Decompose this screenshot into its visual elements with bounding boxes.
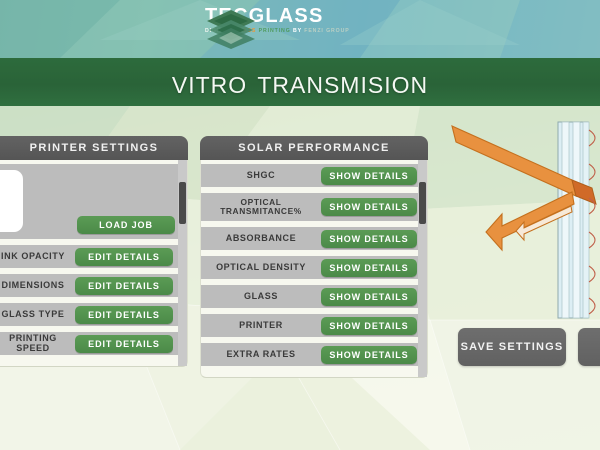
printer-settings-body: LOAD JOB INK OPACITY EDIT DETAILS DIMENS… [0, 160, 188, 367]
row-label-optical-transmitance: OPTICAL TRANSMITANCE% [201, 198, 321, 216]
show-details-button-glass[interactable]: SHOW DETAILS [321, 288, 417, 306]
brand-header-band: TECGLASS DIGITAL GLASS PRINTING BY FENZI… [0, 0, 600, 58]
row-label-glass: GLASS [201, 292, 321, 301]
printer-settings-panel: PRINTER SETTINGS LOAD JOB INK OPACITY ED… [0, 136, 188, 367]
page-title: Vitro Transmision [172, 63, 428, 101]
table-row: ABSORBANCE SHOW DETAILS [201, 227, 427, 250]
row-label-optical-density: OPTICAL DENSITY [201, 263, 321, 272]
table-row: PRINTING SPEED EDIT DETAILS [0, 332, 187, 355]
show-details-button-optical-transmitance[interactable]: SHOW DETAILS [321, 198, 417, 216]
printer-panel-scrollbar[interactable] [178, 160, 187, 366]
tagline-by: BY [293, 28, 302, 34]
row-label-printing-speed: PRINTING SPEED [0, 334, 71, 353]
row-label-ink-opacity: INK OPACITY [0, 252, 71, 261]
job-preview-row: LOAD JOB [0, 164, 187, 239]
show-details-button-absorbance[interactable]: SHOW DETAILS [321, 230, 417, 248]
solar-panel-scroll-thumb[interactable] [419, 182, 426, 224]
brand-logo: TECGLASS DIGITAL GLASS PRINTING BY FENZI… [205, 6, 350, 34]
row-label-glass-type: GLASS TYPE [0, 310, 71, 319]
table-row: SHGC SHOW DETAILS [201, 164, 427, 187]
tagline-printing: PRINTING [259, 28, 291, 34]
stacked-diamond-logo-icon [205, 6, 257, 52]
table-row: GLASS TYPE EDIT DETAILS [0, 303, 187, 326]
application-window: TECGLASS DIGITAL GLASS PRINTING BY FENZI… [0, 0, 600, 450]
show-details-button-optical-density[interactable]: SHOW DETAILS [321, 259, 417, 277]
heat-radiation-arc-icon [589, 130, 595, 314]
table-row: OPTICAL TRANSMITANCE% SHOW DETAILS [201, 193, 427, 221]
edit-details-button-ink-opacity[interactable]: EDIT DETAILS [75, 248, 173, 266]
save-settings-button[interactable]: SAVE SETTINGS [458, 328, 566, 366]
secondary-action-button[interactable] [578, 328, 600, 366]
solar-panel-scrollbar[interactable] [418, 160, 427, 377]
solar-transmission-diagram [440, 118, 600, 358]
solar-performance-panel: SOLAR PERFORMANCE SHGC SHOW DETAILS OPTI… [200, 136, 428, 378]
table-row: EXTRA RATES SHOW DETAILS [201, 343, 427, 366]
row-label-absorbance: ABSORBANCE [201, 234, 321, 243]
solar-performance-title: SOLAR PERFORMANCE [200, 136, 428, 160]
tagline-fenzi-group: FENZI GROUP [304, 28, 349, 34]
show-details-button-extra-rates[interactable]: SHOW DETAILS [321, 346, 417, 364]
printer-settings-title: PRINTER SETTINGS [0, 136, 188, 160]
row-label-shgc: SHGC [201, 171, 321, 180]
row-label-dimensions: DIMENSIONS [0, 281, 71, 290]
page-title-band: Vitro Transmision [0, 58, 600, 106]
solar-performance-body: SHGC SHOW DETAILS OPTICAL TRANSMITANCE% … [200, 160, 428, 378]
show-details-button-printer[interactable]: SHOW DETAILS [321, 317, 417, 335]
show-details-button-shgc[interactable]: SHOW DETAILS [321, 167, 417, 185]
job-preview-thumbnail[interactable] [0, 170, 23, 232]
row-label-extra-rates: EXTRA RATES [201, 350, 321, 359]
edit-details-button-dimensions[interactable]: EDIT DETAILS [75, 277, 173, 295]
laminated-glass-panes-icon [558, 122, 589, 318]
table-row: OPTICAL DENSITY SHOW DETAILS [201, 256, 427, 279]
printer-panel-scroll-thumb[interactable] [179, 182, 186, 224]
edit-details-button-glass-type[interactable]: EDIT DETAILS [75, 306, 173, 324]
table-row: GLASS SHOW DETAILS [201, 285, 427, 308]
table-row: DIMENSIONS EDIT DETAILS [0, 274, 187, 297]
load-job-button[interactable]: LOAD JOB [77, 216, 175, 234]
table-row: PRINTER SHOW DETAILS [201, 314, 427, 337]
table-row: INK OPACITY EDIT DETAILS [0, 245, 187, 268]
row-label-printer: PRINTER [201, 321, 321, 330]
edit-details-button-printing-speed[interactable]: EDIT DETAILS [75, 335, 173, 353]
